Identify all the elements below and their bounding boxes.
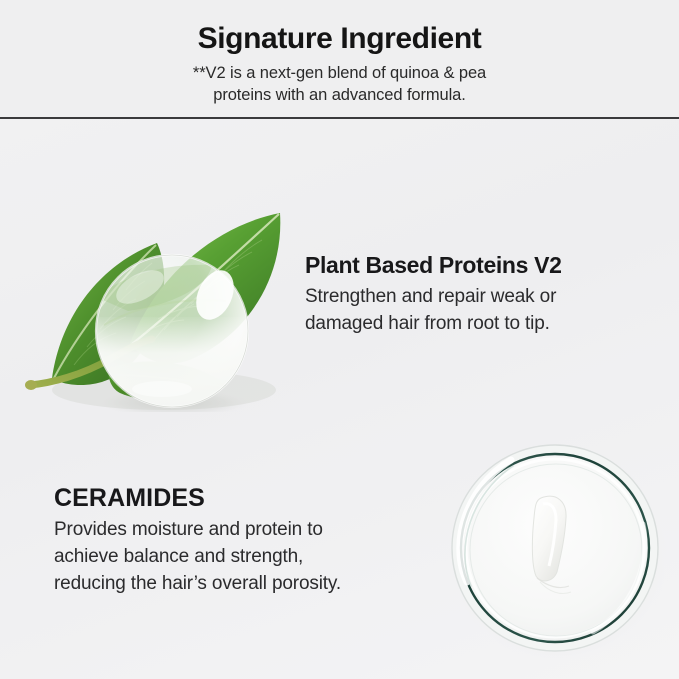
- leaves-with-water-droplet-image: [12, 147, 312, 412]
- section-body-plant-based-proteins: Strengthen and repair weak or damaged ha…: [305, 280, 655, 338]
- section-title-plant-based-proteins: Plant Based Proteins V2: [305, 252, 655, 280]
- content-area: Plant Based Proteins V2 Strengthen and r…: [0, 119, 679, 679]
- header-subtitle-line-1: **V2 is a next-gen blend of quinoa & pea: [140, 63, 540, 85]
- section-plant-based-proteins: Plant Based Proteins V2 Strengthen and r…: [305, 252, 655, 338]
- body-line: reducing the hair’s overall porosity.: [54, 571, 424, 598]
- body-line: damaged hair from root to tip.: [305, 311, 655, 338]
- body-line: achieve balance and strength,: [54, 544, 424, 571]
- section-ceramides: CERAMIDES Provides moisture and protein …: [54, 483, 424, 598]
- header-subtitle-line-2: proteins with an advanced formula.: [140, 85, 540, 107]
- page-title: Signature Ingredient: [0, 0, 679, 56]
- infographic-page: Signature Ingredient **V2 is a next-gen …: [0, 0, 679, 679]
- section-title-ceramides: CERAMIDES: [54, 483, 424, 513]
- header-subtitle: **V2 is a next-gen blend of quinoa & pea…: [140, 56, 540, 107]
- header-banner: Signature Ingredient **V2 is a next-gen …: [0, 0, 679, 118]
- body-line: Provides moisture and protein to: [54, 517, 424, 544]
- glass-petri-dish-with-cream-image: [437, 432, 673, 668]
- section-body-ceramides: Provides moisture and protein to achieve…: [54, 513, 424, 598]
- body-line: Strengthen and repair weak or: [305, 284, 655, 311]
